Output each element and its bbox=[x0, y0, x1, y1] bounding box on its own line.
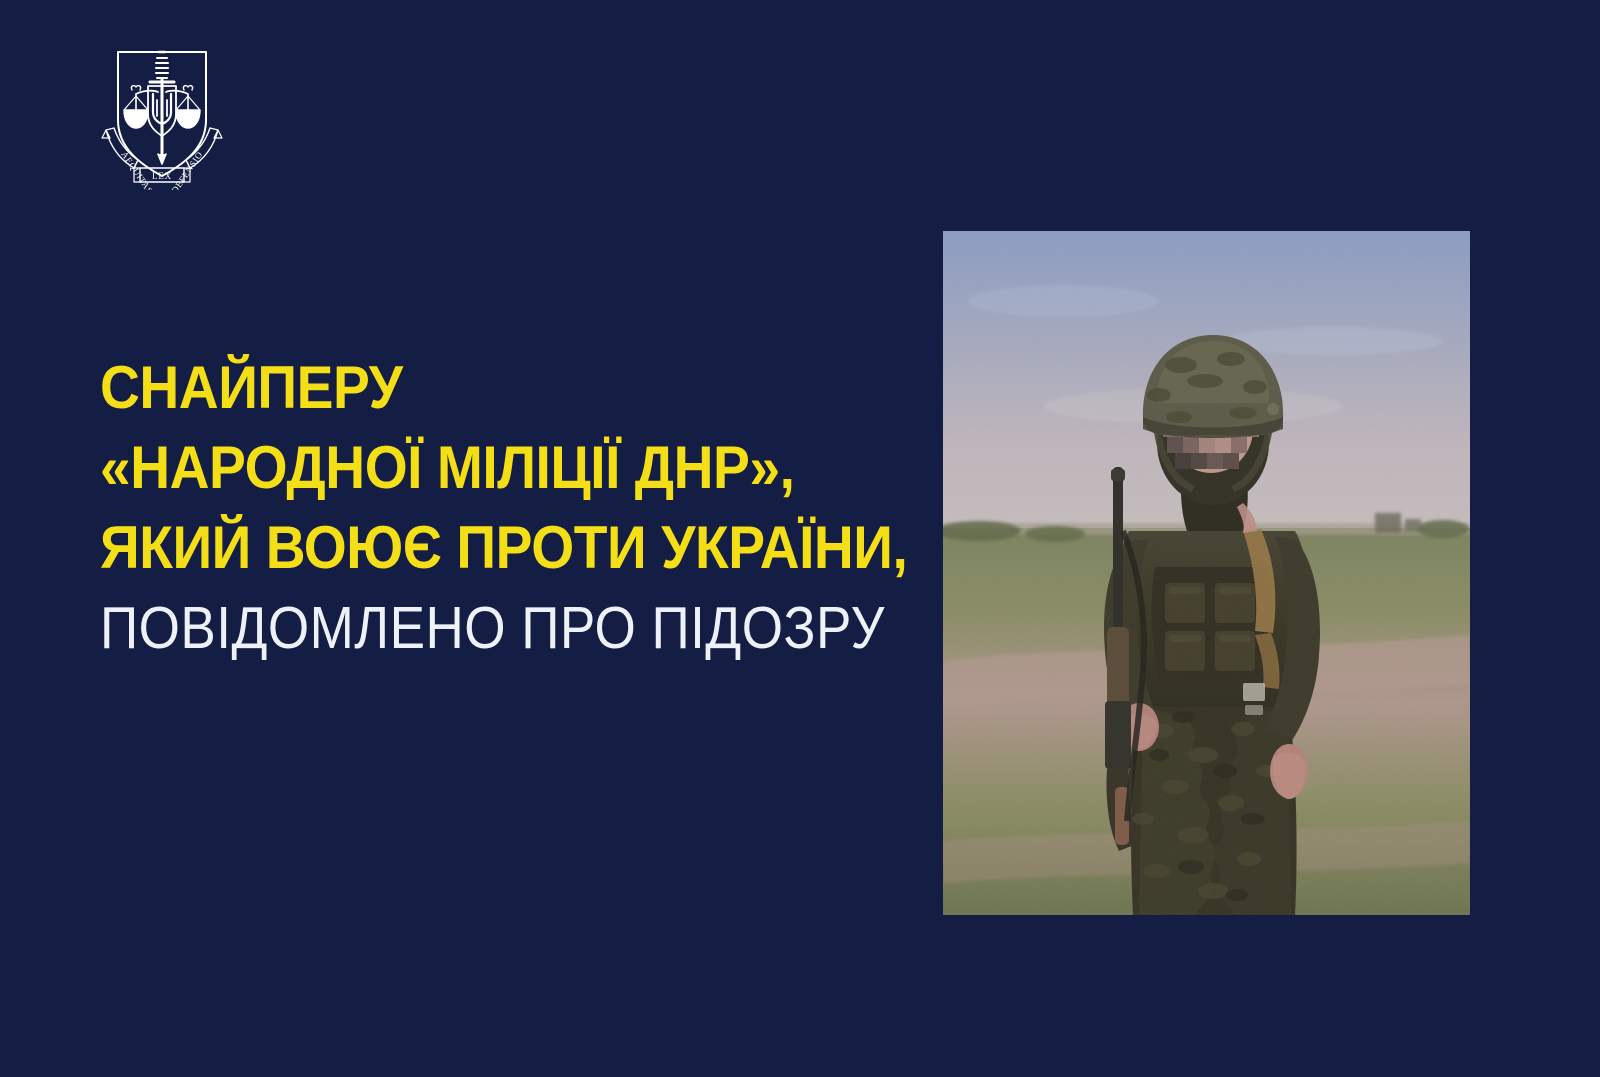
headline-block: СНАЙПЕРУ «НАРОДНОЇ МІЛІЦІЇ ДНР», ЯКИЙ ВО… bbox=[100, 348, 930, 668]
headline-line-4: ПОВІДОМЛЕНО ПРО ПІДОЗРУ bbox=[100, 588, 847, 668]
prosecutor-general-office-emblem: AEQUITAS LEX DEFENSIO bbox=[96, 38, 228, 190]
emblem-motto-center: LEX bbox=[152, 171, 172, 181]
headline-line-3: ЯКИЙ ВОЮЄ ПРОТИ УКРАЇНИ, bbox=[100, 508, 864, 588]
announcement-card: AEQUITAS LEX DEFENSIO СНАЙПЕРУ «НАРОДНОЇ… bbox=[0, 0, 1600, 1077]
emblem-motto-right: DEFENSIO bbox=[169, 150, 204, 190]
headline-line-2: «НАРОДНОЇ МІЛІЦІЇ ДНР», bbox=[100, 428, 864, 508]
suspect-photo bbox=[943, 231, 1470, 915]
headline-line-1: СНАЙПЕРУ bbox=[100, 348, 864, 428]
